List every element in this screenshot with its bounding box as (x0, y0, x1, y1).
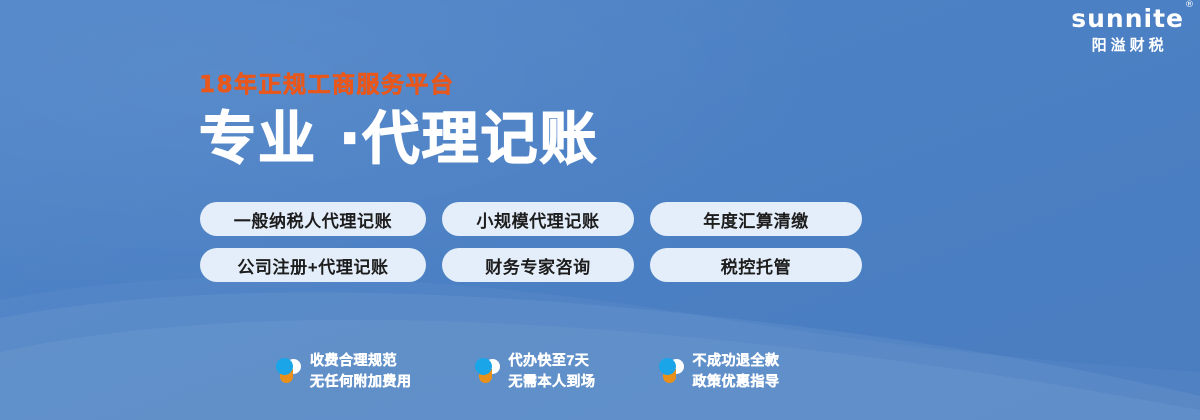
service-tag-group: 一般纳税人代理记账 小规模代理记账 年度汇算清缴 公司注册+代理记账 财务专家咨… (200, 202, 862, 282)
service-tag-tax-control-hosting[interactable]: 税控托管 (650, 248, 862, 282)
dot-shape (475, 358, 492, 375)
circle-moon-drop-icon (658, 356, 684, 386)
feature-item-guarantee: 不成功退全款 政策优惠指导 (658, 350, 780, 392)
feature-line-1: 代办快至7天 (509, 352, 590, 368)
logo-chinese-name: 阳溢财税 (1071, 38, 1184, 53)
logo-wordmark: sunnite ® (1071, 6, 1184, 31)
feature-line-2: 无需本人到场 (509, 373, 596, 389)
service-tag-small-scale-bookkeeping[interactable]: 小规模代理记账 (442, 202, 634, 236)
registered-trademark-icon: ® (1185, 1, 1195, 10)
service-tag-row-1: 一般纳税人代理记账 小规模代理记账 年度汇算清缴 (200, 202, 862, 236)
feature-text-speed: 代办快至7天 无需本人到场 (509, 350, 596, 392)
feature-line-2: 无任何附加费用 (310, 373, 412, 389)
dot-shape (659, 358, 676, 375)
feature-text-pricing: 收费合理规范 无任何附加费用 (310, 350, 412, 392)
feature-item-speed: 代办快至7天 无需本人到场 (474, 350, 596, 392)
hero-eyebrow: 18年正规工商服务平台 (199, 74, 599, 97)
feature-highlight-group: 收费合理规范 无任何附加费用 代办快至7天 无需本人到场 不成功退全款 (275, 350, 780, 392)
service-tag-row-2: 公司注册+代理记账 财务专家咨询 税控托管 (200, 248, 862, 282)
service-tag-general-taxpayer-bookkeeping[interactable]: 一般纳税人代理记账 (200, 202, 426, 236)
logo-wordmark-text: sunnite (1071, 4, 1184, 33)
dot-shape (276, 358, 293, 375)
brand-logo[interactable]: sunnite ® 阳溢财税 (1071, 6, 1184, 53)
service-tag-annual-settlement[interactable]: 年度汇算清缴 (650, 202, 862, 236)
feature-line-1: 不成功退全款 (693, 352, 780, 368)
feature-item-pricing: 收费合理规范 无任何附加费用 (275, 350, 412, 392)
circle-moon-drop-icon (474, 356, 500, 386)
circle-moon-drop-icon (275, 356, 301, 386)
service-tag-finance-expert-consult[interactable]: 财务专家咨询 (442, 248, 634, 282)
hero-headline-block: 18年正规工商服务平台 专业 ·代理记账 (199, 74, 599, 170)
page-title: 专业 ·代理记账 (199, 110, 599, 170)
feature-line-2: 政策优惠指导 (693, 373, 780, 389)
feature-text-guarantee: 不成功退全款 政策优惠指导 (693, 350, 780, 392)
promo-banner: sunnite ® 阳溢财税 18年正规工商服务平台 专业 ·代理记账 一般纳税… (0, 0, 1200, 420)
service-tag-company-registration-bookkeeping[interactable]: 公司注册+代理记账 (200, 248, 426, 282)
feature-line-1: 收费合理规范 (310, 352, 397, 368)
